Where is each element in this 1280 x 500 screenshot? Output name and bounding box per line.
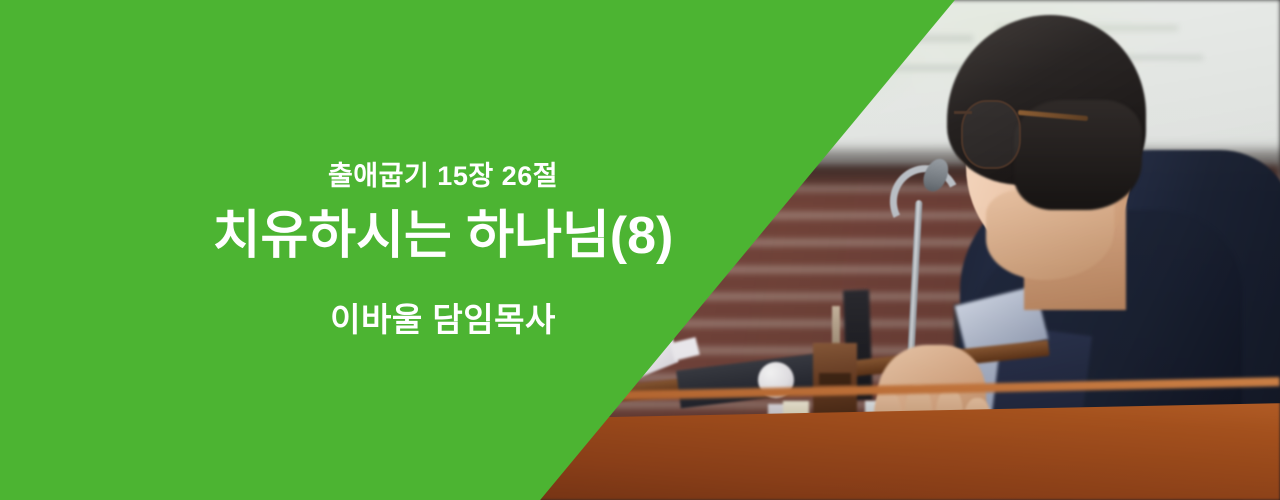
wooden-block — [813, 343, 857, 415]
glasses-bridge — [954, 111, 972, 114]
sermon-banner: 출애굽기 15장 26절 치유하시는 하나님(8) 이바울 담임목사 — [0, 0, 1280, 500]
